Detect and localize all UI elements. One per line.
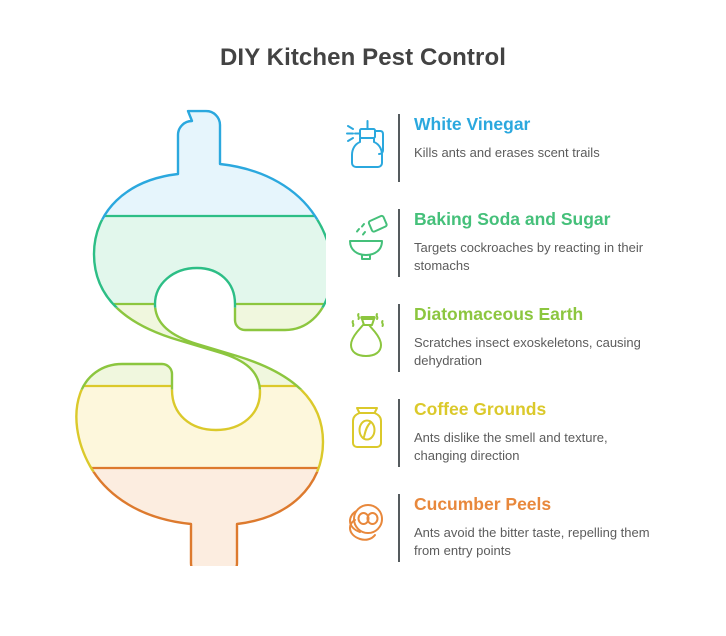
dollar-sign-illustration (36, 106, 326, 566)
list-item[interactable]: Coffee Grounds Ants dislike the smell an… (340, 397, 690, 469)
item-heading: White Vinegar (414, 113, 690, 135)
list-item[interactable]: Baking Soda and Sugar Targets cockroache… (340, 207, 690, 279)
item-text: Cucumber Peels Ants avoid the bitter tas… (414, 492, 690, 560)
item-divider (398, 494, 400, 562)
item-description: Scratches insect exoskeletons, causing d… (414, 334, 659, 370)
dollar-color-bands (36, 106, 326, 566)
item-text: Coffee Grounds Ants dislike the smell an… (414, 397, 690, 465)
bowl-with-powder-icon (340, 207, 394, 267)
item-heading: Diatomaceous Earth (414, 303, 690, 325)
powder-sack-icon (340, 302, 394, 362)
item-divider (398, 304, 400, 372)
item-description: Ants avoid the bitter taste, repelling t… (414, 524, 659, 560)
item-text: White Vinegar Kills ants and erases scen… (414, 112, 690, 162)
infographic-root: DIY Kitchen Pest Control (0, 0, 726, 636)
spray-bottle-icon (340, 112, 394, 172)
coffee-jar-icon (340, 397, 394, 457)
remedy-list: White Vinegar Kills ants and erases scen… (340, 112, 690, 587)
list-item[interactable]: Diatomaceous Earth Scratches insect exos… (340, 302, 690, 374)
cucumber-slices-icon (340, 492, 394, 552)
item-heading: Coffee Grounds (414, 398, 690, 420)
item-divider (398, 114, 400, 182)
item-heading: Baking Soda and Sugar (414, 208, 690, 230)
item-description: Kills ants and erases scent trails (414, 144, 659, 162)
page-title: DIY Kitchen Pest Control (0, 44, 726, 72)
list-item[interactable]: Cucumber Peels Ants avoid the bitter tas… (340, 492, 690, 564)
item-text: Diatomaceous Earth Scratches insect exos… (414, 302, 690, 370)
item-text: Baking Soda and Sugar Targets cockroache… (414, 207, 690, 275)
item-description: Targets cockroaches by reacting in their… (414, 239, 659, 275)
item-heading: Cucumber Peels (414, 493, 690, 515)
item-description: Ants dislike the smell and texture, chan… (414, 429, 659, 465)
item-divider (398, 399, 400, 467)
item-divider (398, 209, 400, 277)
list-item[interactable]: White Vinegar Kills ants and erases scen… (340, 112, 690, 184)
